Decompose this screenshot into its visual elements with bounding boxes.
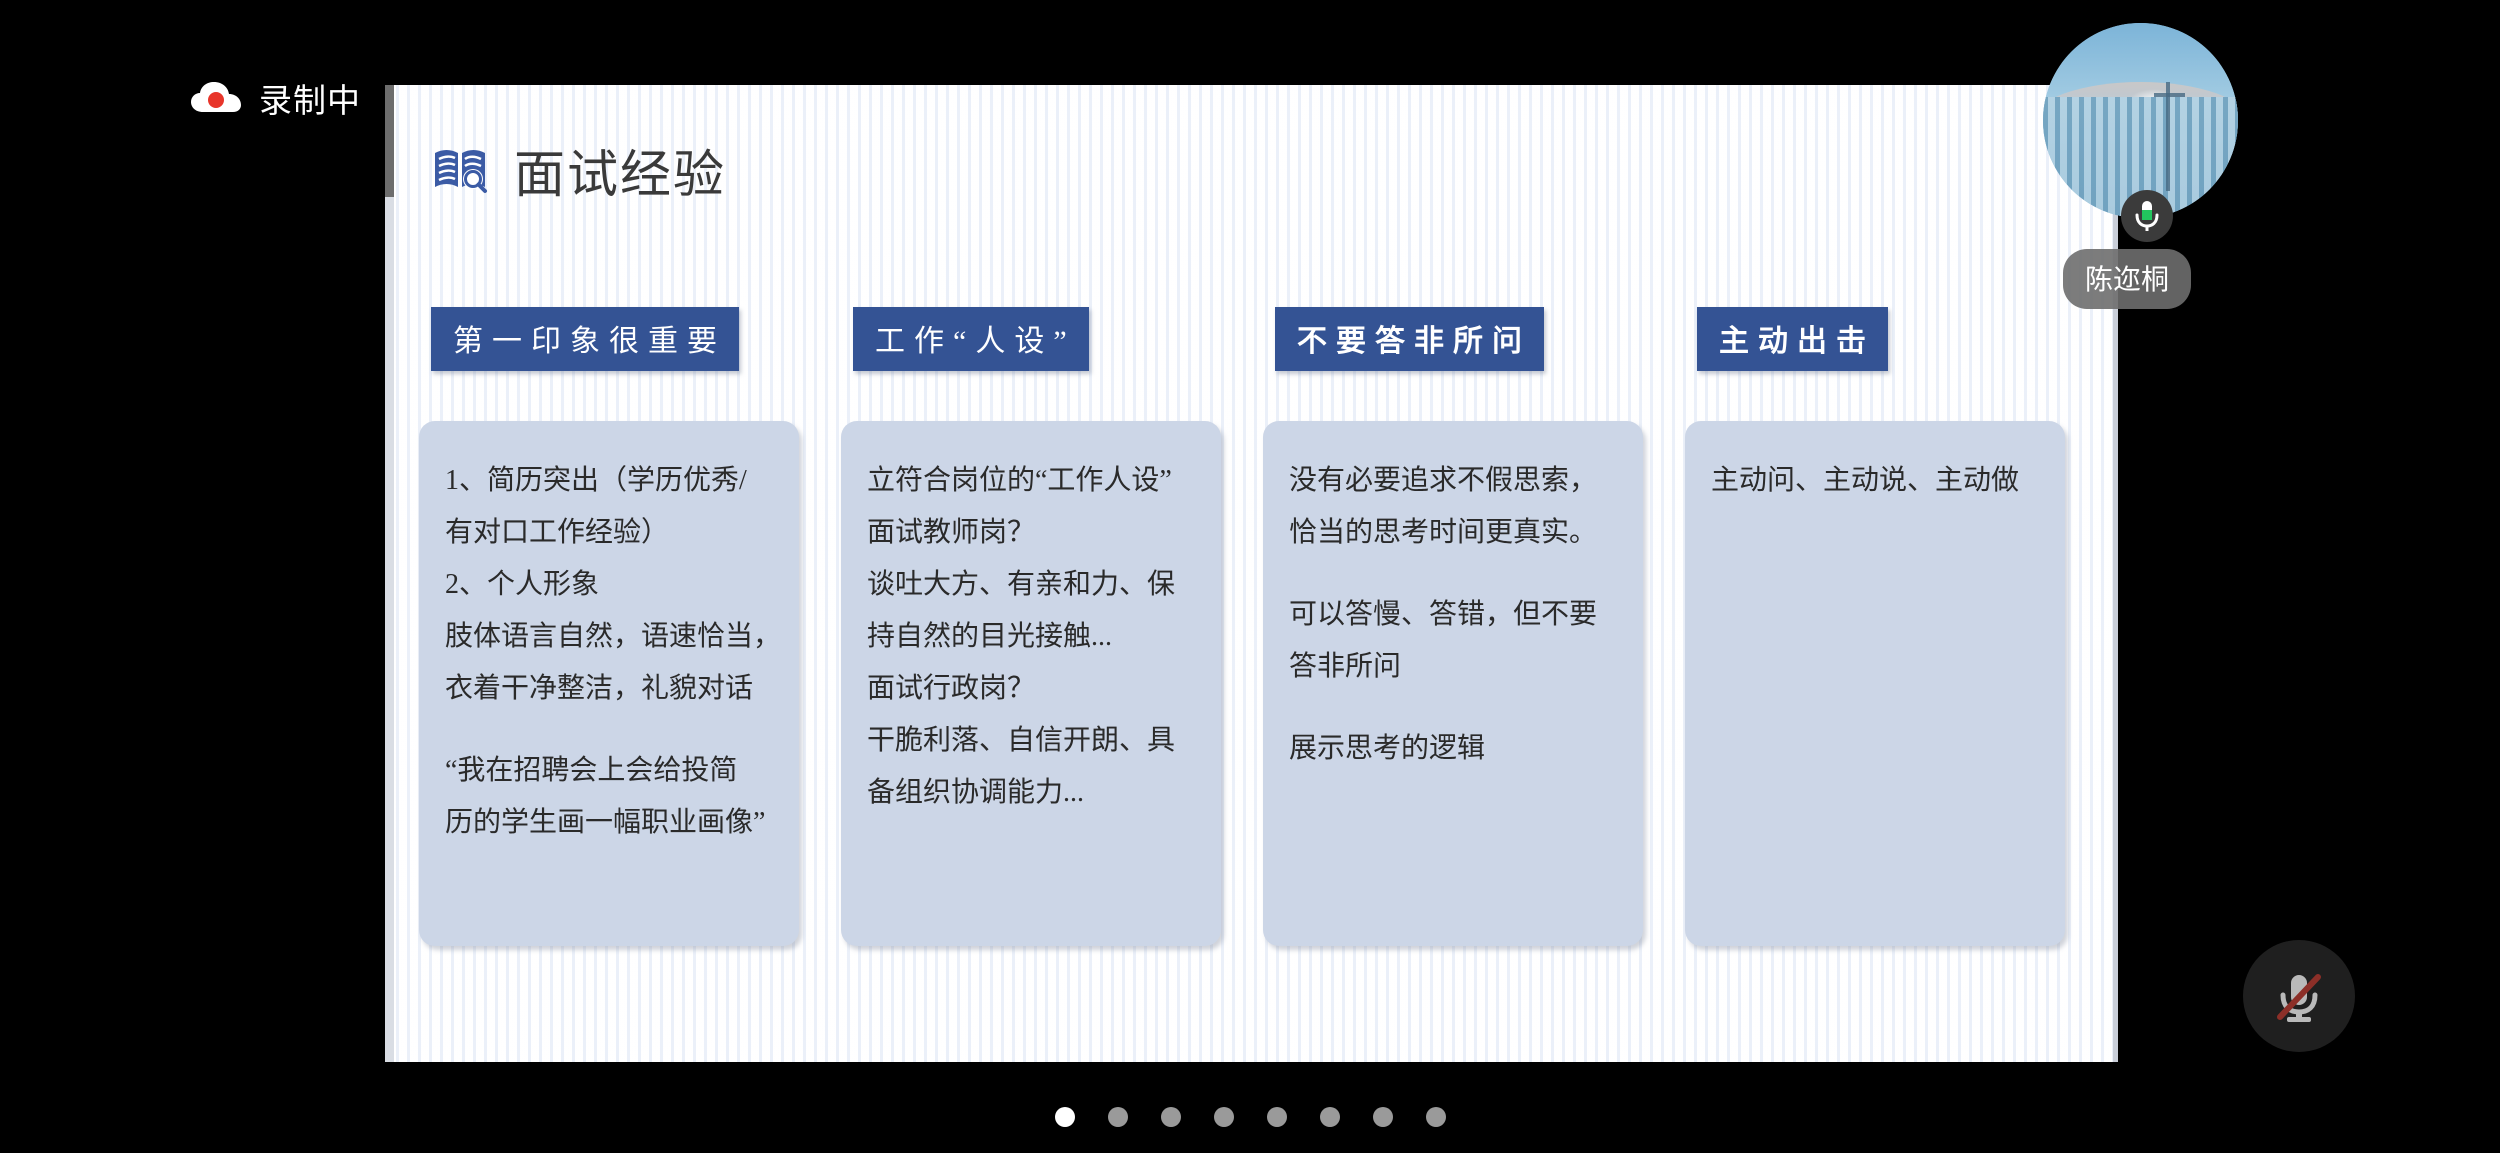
book-search-icon <box>432 145 488 195</box>
card-line: 没有必要追求不假思索， <box>1289 455 1619 507</box>
recording-label: 录制中 <box>259 74 361 122</box>
page-dot-2[interactable] <box>1161 1107 1181 1127</box>
card-line: 可以答慢、答错，但不要 <box>1289 589 1619 641</box>
slide-left-edge <box>385 85 394 1062</box>
pagination-dots <box>0 1107 2500 1127</box>
column-header-2: 不要答非所问 <box>1275 307 1544 371</box>
page-dot-5[interactable] <box>1320 1107 1340 1127</box>
recording-indicator: 录制中 <box>190 74 361 122</box>
slide-stage: 面试经验 第一印象很重要1、简历突出（学历优秀/有对口工作经验）2、个人形象肢体… <box>385 85 2118 1062</box>
page-dot-4[interactable] <box>1267 1107 1287 1127</box>
card-line: 恰当的思考时间更真实。 <box>1289 507 1619 559</box>
card-line <box>1289 559 1619 589</box>
card-line <box>1289 693 1619 723</box>
card-line: 衣着干净整洁，礼貌对话 <box>445 663 775 715</box>
card-line: 1、简历突出（学历优秀/ <box>445 455 775 507</box>
column-0: 第一印象很重要1、简历突出（学历优秀/有对口工作经验）2、个人形象肢体语言自然，… <box>415 307 837 946</box>
participant-name: 陈迩桐 <box>2063 249 2191 309</box>
slide-right-edge <box>2113 85 2118 1062</box>
column-header-0: 第一印象很重要 <box>431 307 739 371</box>
cloud-record-icon <box>190 81 242 115</box>
card-line: 有对口工作经验） <box>445 507 775 559</box>
column-card-2: 没有必要追求不假思索，恰当的思考时间更真实。可以答慢、答错，但不要答非所问展示思… <box>1263 421 1643 946</box>
column-header-3: 主动出击 <box>1697 307 1888 371</box>
page-title: 面试经验 <box>514 133 726 207</box>
slide-title-row: 面试经验 <box>432 133 726 207</box>
microphone-active-icon <box>2121 190 2173 242</box>
page-dot-6[interactable] <box>1373 1107 1393 1127</box>
column-3: 主动出击主动问、主动说、主动做 <box>1681 307 2103 946</box>
card-line: 肢体语言自然，语速恰当， <box>445 611 775 663</box>
card-line: 答非所问 <box>1289 641 1619 693</box>
column-header-1: 工作“人设” <box>853 307 1089 371</box>
card-line: 主动问、主动说、主动做 <box>1711 455 2041 507</box>
card-line: 2、个人形象 <box>445 559 775 611</box>
card-line: 展示思考的逻辑 <box>1289 723 1619 775</box>
self-view-avatar[interactable]: 陈迩桐 <box>2043 23 2238 218</box>
columns-container: 第一印象很重要1、简历突出（学历优秀/有对口工作经验）2、个人形象肢体语言自然，… <box>415 307 2105 946</box>
column-card-1: 立符合岗位的“工作人设”面试教师岗？谈吐大方、有亲和力、保持自然的目光接触...… <box>841 421 1221 946</box>
page-dot-7[interactable] <box>1426 1107 1446 1127</box>
page-dot-3[interactable] <box>1214 1107 1234 1127</box>
page-dot-1[interactable] <box>1108 1107 1128 1127</box>
card-line: 干脆利落、自信开朗、具 <box>867 715 1197 767</box>
column-card-3: 主动问、主动说、主动做 <box>1685 421 2065 946</box>
column-2: 不要答非所问没有必要追求不假思索，恰当的思考时间更真实。可以答慢、答错，但不要答… <box>1259 307 1681 946</box>
card-line: “我在招聘会上会给投简 <box>445 745 775 797</box>
column-1: 工作“人设”立符合岗位的“工作人设”面试教师岗？谈吐大方、有亲和力、保持自然的目… <box>837 307 1259 946</box>
card-line: 面试教师岗？ <box>867 507 1197 559</box>
column-card-0: 1、简历突出（学历优秀/有对口工作经验）2、个人形象肢体语言自然，语速恰当，衣着… <box>419 421 799 946</box>
card-line: 谈吐大方、有亲和力、保 <box>867 559 1197 611</box>
microphone-muted-icon[interactable] <box>2243 940 2355 1052</box>
avatar <box>2043 23 2238 218</box>
card-line <box>445 715 775 745</box>
card-line: 持自然的目光接触... <box>867 611 1197 663</box>
card-line: 立符合岗位的“工作人设” <box>867 455 1197 507</box>
card-line: 备组织协调能力... <box>867 767 1197 819</box>
page-dot-0[interactable] <box>1055 1107 1075 1127</box>
card-line: 面试行政岗？ <box>867 663 1197 715</box>
card-line: 历的学生画一幅职业画像” <box>445 797 775 849</box>
